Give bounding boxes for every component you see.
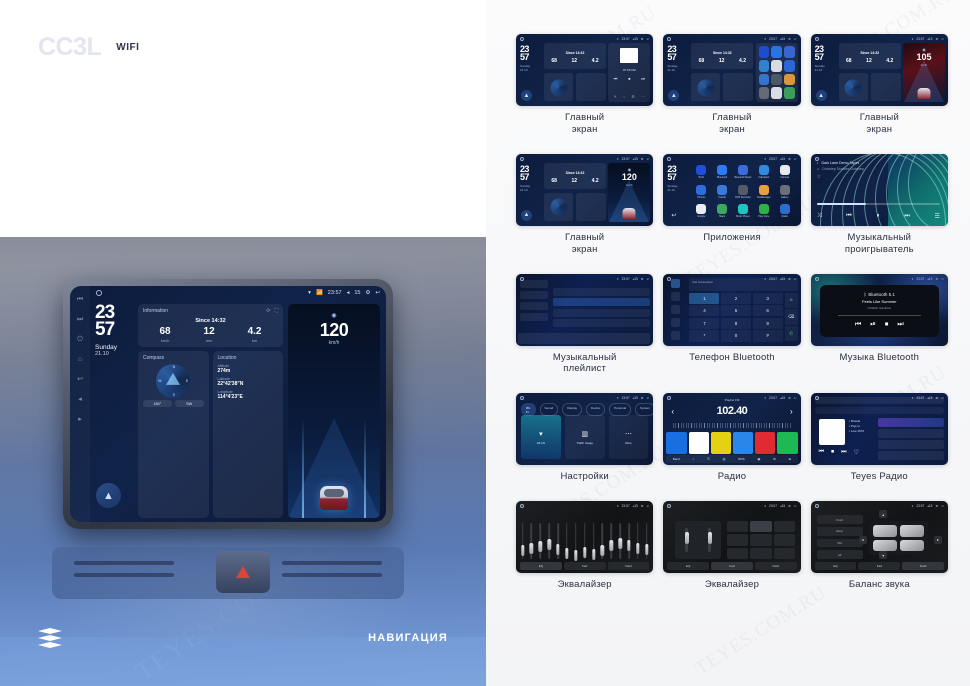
balance-option[interactable]: Mix bbox=[817, 539, 863, 548]
backspace-icon[interactable]: ⌫ bbox=[785, 309, 798, 324]
home-indicator-icon[interactable] bbox=[520, 504, 524, 508]
prev-icon[interactable]: ⏮ bbox=[855, 321, 861, 329]
app-cell[interactable]: Play Store bbox=[754, 202, 774, 219]
app-shortcut-icon[interactable] bbox=[759, 74, 770, 86]
volume-up-icon[interactable]: ▸ bbox=[76, 415, 85, 424]
app-icon[interactable] bbox=[759, 204, 769, 214]
dial-key[interactable]: 7 bbox=[689, 318, 719, 329]
eq-tabs[interactable]: EQFadField bbox=[667, 562, 796, 570]
back-icon[interactable]: ↩ bbox=[794, 37, 797, 41]
eq-knob[interactable] bbox=[592, 549, 595, 560]
settings-card[interactable]: ⋯More bbox=[609, 415, 649, 459]
home-indicator-icon[interactable] bbox=[520, 157, 524, 161]
eq-band-slider[interactable] bbox=[565, 523, 568, 559]
eq-tab[interactable]: EQ bbox=[520, 562, 562, 570]
prev-icon[interactable]: ⏮ bbox=[846, 213, 851, 220]
app-cell[interactable]: Maps bbox=[712, 202, 732, 219]
app-cell[interactable]: Calculator bbox=[754, 164, 774, 181]
eq-preset-key[interactable] bbox=[727, 534, 748, 545]
home-indicator-icon[interactable] bbox=[96, 290, 102, 296]
app-icon[interactable] bbox=[696, 204, 706, 214]
phone-nav-icon[interactable] bbox=[671, 331, 680, 340]
stop-icon[interactable]: ⏹ bbox=[831, 449, 834, 456]
power-icon[interactable]: ⏻ bbox=[76, 335, 85, 344]
information-card[interactable]: Information ⟳ ⛶ Since 14:32 68 bbox=[138, 304, 283, 347]
back-icon[interactable]: ↩ bbox=[794, 157, 797, 161]
screen-thumbnail-settings[interactable]: ▾23:57◂15⚙↩Wi-FiSoundDisplayDevicePerson… bbox=[516, 393, 653, 465]
location-card[interactable] bbox=[723, 73, 753, 101]
eq-tabs[interactable]: EQFadField bbox=[815, 562, 944, 570]
app-cell[interactable]: Bluetooth bbox=[712, 164, 732, 181]
media-bottom-bar[interactable]: ✎‹☰⋯ bbox=[610, 95, 648, 99]
back-icon[interactable]: ↩ bbox=[941, 504, 944, 508]
teyes-controls[interactable]: ⏮⏹⏭♡ bbox=[819, 449, 859, 456]
next-station-icon[interactable]: › bbox=[790, 407, 793, 416]
stop-icon[interactable]: ⏹ bbox=[628, 76, 630, 81]
app-cell[interactable]: Radio bbox=[775, 202, 795, 219]
dial-pad[interactable]: 123456789*0# bbox=[689, 293, 782, 342]
home-indicator-icon[interactable] bbox=[667, 37, 671, 41]
eq-knob[interactable] bbox=[521, 545, 524, 556]
screen-gallery-item[interactable]: ▾23:57◂15⚙↩2357Sunday21.10▲Since 14:3268… bbox=[811, 34, 948, 136]
favorite-icon[interactable]: ☆ bbox=[785, 293, 798, 308]
app-cell[interactable]: Music Player bbox=[733, 202, 753, 219]
phone-nav-icon[interactable] bbox=[671, 305, 680, 314]
screen-thumbnail-eq[interactable]: ▾23:57◂15⚙↩EQFadField bbox=[516, 501, 653, 573]
track-row[interactable] bbox=[553, 288, 650, 296]
eq-band-slider[interactable] bbox=[574, 523, 577, 559]
station-preset[interactable] bbox=[711, 432, 731, 454]
eq-preset-key[interactable] bbox=[727, 548, 748, 559]
player-controls[interactable]: ⤨⏮⏸⏭☰ bbox=[817, 213, 940, 220]
track-list[interactable] bbox=[553, 288, 650, 332]
eq-band-slider[interactable] bbox=[583, 523, 586, 559]
screen-gallery-item[interactable]: ▾23:57◂15⚙↩2357Sunday21.10▲Since 14:3268… bbox=[516, 154, 653, 256]
dial-key[interactable]: 5 bbox=[721, 305, 751, 316]
frequency-scale[interactable] bbox=[673, 423, 790, 428]
app-icon[interactable] bbox=[696, 185, 706, 195]
eq-knob[interactable] bbox=[530, 543, 533, 554]
search-icon[interactable]: ⌕ bbox=[693, 457, 695, 461]
location-card[interactable]: Location Altitude 274m Latitude 22°42'38… bbox=[213, 351, 284, 518]
layers-icon[interactable] bbox=[38, 628, 62, 648]
screen-gallery-item[interactable]: ▾23:57◂15⚙↩♪Dark Lane Demo Tapes♫Dubstep… bbox=[811, 154, 948, 256]
playlist-nav-item[interactable] bbox=[520, 313, 548, 321]
eq-band-slider[interactable] bbox=[539, 523, 542, 559]
station-row[interactable] bbox=[878, 429, 944, 438]
screen-gallery-item[interactable]: ▾23:57◂15⚙↩EQFadFieldЭквалайзер bbox=[663, 501, 800, 591]
navigation-fab[interactable]: ▲ bbox=[816, 90, 827, 101]
app-icon[interactable] bbox=[717, 165, 727, 175]
navigation-fab[interactable]: ▲ bbox=[96, 483, 121, 508]
refresh-icon[interactable]: ⟳ bbox=[266, 308, 270, 314]
shuffle-icon[interactable]: ⤨ bbox=[817, 213, 822, 220]
list-icon[interactable]: ☰ bbox=[631, 95, 634, 99]
screen-gallery-item[interactable]: ▾23:57◂15⚙↩2357Sunday21.10▲Since 14:3268… bbox=[516, 34, 653, 136]
next-icon[interactable]: ⏭ bbox=[897, 321, 903, 329]
compass-card[interactable] bbox=[544, 193, 573, 221]
compass-card[interactable] bbox=[839, 73, 868, 101]
station-preset[interactable] bbox=[666, 432, 686, 454]
screen-gallery-item[interactable]: ▾23:57◂15⚙↩Not Connected123456789*0#☆⌫✆Т… bbox=[663, 274, 800, 376]
app-shortcut-icon[interactable] bbox=[771, 74, 782, 86]
eq-band-slider[interactable] bbox=[619, 523, 622, 559]
back-icon[interactable]: ↩ bbox=[794, 504, 797, 508]
balance-right-arrow[interactable]: ▸ bbox=[934, 536, 942, 544]
playlist-nav-item[interactable] bbox=[520, 280, 548, 288]
screen-thumbnail-radio[interactable]: ▾23:57◂15⚙↩Playlist FM102.40‹›Band⌕☰▥RDS… bbox=[663, 393, 800, 465]
station-preset[interactable] bbox=[733, 432, 753, 454]
app-icon[interactable] bbox=[780, 185, 790, 195]
phone-sidebar[interactable] bbox=[663, 274, 686, 346]
eq-tab[interactable]: Field bbox=[902, 562, 944, 570]
compass-card[interactable] bbox=[544, 73, 573, 101]
prev-station-icon[interactable]: ‹ bbox=[671, 407, 674, 416]
eq-band-slider[interactable] bbox=[530, 523, 533, 559]
eq-tab[interactable]: Field bbox=[755, 562, 797, 570]
eq-preset-key[interactable] bbox=[774, 548, 795, 559]
media-controls[interactable]: ⏮⏹⏭ bbox=[608, 76, 650, 81]
app-icon[interactable] bbox=[717, 185, 727, 195]
seat-rear-right[interactable] bbox=[900, 540, 924, 552]
screen-gallery-item[interactable]: ▾23:57◂15⚙↩EQFadFieldЭквалайзер bbox=[516, 501, 653, 591]
teyes-filter-bar[interactable] bbox=[815, 407, 944, 414]
eq-tab[interactable]: EQ bbox=[667, 562, 709, 570]
back-icon[interactable]: ↩ bbox=[647, 396, 650, 400]
next-icon[interactable]: ⏭ bbox=[904, 213, 909, 220]
speed-panel[interactable]: ◉105km/h bbox=[903, 43, 945, 102]
eq-knob[interactable] bbox=[645, 544, 648, 555]
volume-down-icon[interactable]: ◂ bbox=[76, 395, 85, 404]
dial-key[interactable]: 8 bbox=[721, 318, 751, 329]
app-icon[interactable] bbox=[696, 165, 706, 175]
dial-key[interactable]: 2 bbox=[721, 293, 751, 304]
app-cell[interactable]: FileManager bbox=[754, 183, 774, 200]
app-shortcut-icon[interactable] bbox=[784, 46, 795, 58]
gear-icon[interactable]: ⚙ bbox=[641, 37, 644, 41]
screen-thumbnail-home-speed-red[interactable]: ▾23:57◂15⚙↩2357Sunday21.10▲Since 14:3268… bbox=[811, 34, 948, 106]
eq-knob[interactable] bbox=[565, 548, 568, 559]
station-preset[interactable] bbox=[689, 432, 709, 454]
favorite-icon[interactable]: ☆ bbox=[817, 174, 885, 180]
eq-band-slider[interactable] bbox=[610, 523, 613, 559]
eq-knob[interactable] bbox=[539, 541, 542, 552]
pause-icon[interactable]: ⏸ bbox=[877, 213, 880, 220]
app-shortcut-icon[interactable] bbox=[771, 60, 782, 72]
settings-cards[interactable]: ▾WLAN▥Traffic Usage⋯More bbox=[521, 415, 648, 459]
eq-band-slider[interactable] bbox=[636, 523, 639, 559]
eq-preset-key[interactable] bbox=[727, 521, 748, 532]
navigation-fab[interactable]: ▲ bbox=[668, 90, 679, 101]
home-indicator-icon[interactable] bbox=[667, 157, 671, 161]
forward-icon[interactable]: ⏭ bbox=[76, 315, 85, 324]
expand-icon[interactable]: ⛶ bbox=[274, 308, 278, 314]
apps-icon[interactable]: ⊞ bbox=[789, 457, 792, 461]
screen-thumbnail-balance[interactable]: ▾23:57◂15⚙↩FrontRearMixAll▴▾◂▸EQFadField bbox=[811, 501, 948, 573]
eq-knob[interactable] bbox=[610, 540, 613, 551]
screen-thumbnail-apps[interactable]: ▾23:57◂15⚙↩Wi-FiBluetoothBluetooth Music… bbox=[663, 154, 800, 226]
balance-left-arrow[interactable]: ◂ bbox=[859, 536, 867, 544]
rds-icon[interactable]: RDS bbox=[738, 457, 744, 461]
eq-tab[interactable]: EQ bbox=[815, 562, 857, 570]
eq-preset-key[interactable] bbox=[774, 521, 795, 532]
band-button[interactable]: Band bbox=[673, 457, 680, 461]
phone-nav-icon[interactable] bbox=[671, 318, 680, 327]
eq-header[interactable] bbox=[520, 510, 649, 519]
app-icon[interactable] bbox=[759, 165, 769, 175]
eq-preset-key[interactable] bbox=[750, 521, 771, 532]
gear-icon[interactable]: ⚙ bbox=[641, 277, 644, 281]
station-preset[interactable] bbox=[777, 432, 797, 454]
phone-nav-icon[interactable] bbox=[671, 292, 680, 301]
dial-key[interactable]: 6 bbox=[753, 305, 783, 316]
gear-icon[interactable]: ⚙ bbox=[788, 37, 791, 41]
screen-thumbnail-btmusic[interactable]: ▾23:57◂15⚙↩ᛒBluetooth 5.1Feels Like Summ… bbox=[811, 274, 948, 346]
eq-tab[interactable]: Fad bbox=[711, 562, 753, 570]
balance-slider[interactable] bbox=[708, 528, 711, 552]
next-icon[interactable]: ⏭ bbox=[841, 449, 846, 456]
eq-band-slider[interactable] bbox=[557, 523, 560, 559]
app-grid[interactable]: Wi-FiBluetoothBluetooth MusicCalculatorC… bbox=[689, 162, 796, 222]
app-cell[interactable]: Chrome bbox=[691, 183, 711, 200]
location-card[interactable] bbox=[871, 73, 901, 101]
favorite-icon[interactable]: ♡ bbox=[853, 449, 858, 456]
app-shortcut-icon[interactable] bbox=[784, 60, 795, 72]
playlist-nav-item[interactable] bbox=[520, 302, 548, 310]
balance-up-arrow[interactable]: ▴ bbox=[879, 510, 887, 518]
eq-knob[interactable] bbox=[583, 547, 586, 558]
balance-pad[interactable] bbox=[869, 521, 928, 555]
eq-preset-key[interactable] bbox=[750, 534, 771, 545]
dial-key[interactable]: 1 bbox=[689, 293, 719, 304]
balance-options[interactable]: FrontRearMixAll bbox=[817, 515, 863, 559]
screen-gallery-item[interactable]: ▾23:57◂15⚙↩FrontRearMixAll▴▾◂▸EQFadField… bbox=[811, 501, 948, 591]
screen-gallery-item[interactable]: ▾23:57◂15⚙↩Wi-FiSoundDisplayDevicePerson… bbox=[516, 393, 653, 483]
gear-icon[interactable]: ⚙ bbox=[935, 504, 938, 508]
eq-header[interactable] bbox=[667, 510, 796, 519]
app-icon[interactable] bbox=[759, 185, 769, 195]
back-icon[interactable]: ↩ bbox=[647, 157, 650, 161]
compass-card[interactable]: Compass N E S W 180° bbox=[138, 351, 209, 518]
eq-icon[interactable]: ▥ bbox=[723, 457, 726, 461]
back-icon[interactable]: ‹ bbox=[623, 95, 624, 99]
phone-nav-icon[interactable] bbox=[671, 279, 680, 288]
speed-panel[interactable]: ◉120km/h bbox=[608, 163, 650, 222]
more-icon[interactable]: ⋯ bbox=[641, 95, 645, 99]
home-indicator-icon[interactable] bbox=[520, 37, 524, 41]
gear-icon[interactable]: ⚙ bbox=[641, 504, 644, 508]
eq-fader-sliders[interactable] bbox=[675, 521, 721, 559]
eq-preset-key[interactable] bbox=[774, 534, 795, 545]
seat-rear-left[interactable] bbox=[873, 540, 897, 552]
balance-option[interactable]: Front bbox=[817, 515, 863, 524]
screen-thumbnail-home-apps[interactable]: ▾23:57◂15⚙↩2357Sunday21.10▲Since 14:3268… bbox=[663, 34, 800, 106]
gear-icon[interactable]: ⚙ bbox=[788, 504, 791, 508]
screen-gallery-item[interactable]: ▾23:57◂15⚙↩Wi-FiBluetoothBluetooth Music… bbox=[663, 154, 800, 256]
app-shortcut-icon[interactable] bbox=[784, 74, 795, 86]
progress-slider[interactable] bbox=[817, 203, 940, 205]
home-indicator-icon[interactable] bbox=[520, 396, 524, 400]
app-cell[interactable]: Bluetooth Music bbox=[733, 164, 753, 181]
app-shortcut-icon[interactable] bbox=[759, 87, 770, 99]
home-indicator-icon[interactable] bbox=[667, 504, 671, 508]
navigation-fab[interactable]: ▲ bbox=[521, 90, 532, 101]
rewind-icon[interactable]: ⏮ bbox=[76, 295, 85, 304]
eq-knob[interactable] bbox=[627, 540, 630, 551]
app-icon[interactable] bbox=[780, 165, 790, 175]
screen-thumbnail-dialpad[interactable]: ▾23:57◂15⚙↩Not Connected123456789*0#☆⌫✆ bbox=[663, 274, 800, 346]
hazard-light-button[interactable] bbox=[216, 551, 270, 593]
station-row[interactable] bbox=[878, 418, 944, 427]
app-cell[interactable]: Wi-Fi bbox=[691, 164, 711, 181]
app-icon[interactable] bbox=[717, 204, 727, 214]
prev-icon[interactable]: ⏮ bbox=[819, 449, 824, 456]
eq-preset-key[interactable] bbox=[750, 548, 771, 559]
next-icon[interactable]: ⏭ bbox=[641, 76, 645, 81]
app-cell[interactable]: DVR Recorder bbox=[733, 183, 753, 200]
progress-slider[interactable] bbox=[838, 315, 922, 316]
app-icon[interactable] bbox=[738, 165, 748, 175]
eq-tab[interactable]: Field bbox=[608, 562, 650, 570]
navigation-fab[interactable]: ▲ bbox=[521, 210, 532, 221]
back-icon[interactable]: ↩ bbox=[941, 37, 944, 41]
screen-gallery-item[interactable]: ▾23:57◂15⚙↩♪ Russia♪ Pop.ru♪ Low 1670⏮⏹⏭… bbox=[811, 393, 948, 483]
screen-side-rail[interactable]: ⏮ ⏭ ⏻ ⌂ ↩ ◂ ▸ bbox=[70, 286, 90, 522]
speed-panel[interactable]: ◉ 120 km/h bbox=[288, 304, 380, 518]
eq-knob[interactable] bbox=[618, 538, 621, 549]
balance-option[interactable]: Rear bbox=[817, 527, 863, 536]
track-row[interactable] bbox=[553, 309, 650, 317]
screen-gallery-item[interactable]: ▾23:57◂15⚙↩Playlist FM102.40‹›Band⌕☰▥RDS… bbox=[663, 393, 800, 483]
app-cell[interactable]: Carlink bbox=[712, 183, 732, 200]
information-card[interactable]: Since 14:3268124.2 bbox=[691, 43, 753, 69]
eq-knob[interactable] bbox=[574, 550, 577, 561]
track-row[interactable] bbox=[553, 298, 650, 306]
back-arrow-icon[interactable]: ↩ bbox=[375, 290, 380, 296]
gear-icon[interactable]: ⚙ bbox=[641, 396, 644, 400]
settings-gear-icon[interactable]: ⚙ bbox=[365, 290, 370, 296]
dial-entry-field[interactable]: Not Connected bbox=[689, 278, 797, 291]
home-indicator-icon[interactable] bbox=[815, 37, 819, 41]
call-icon[interactable]: ✆ bbox=[785, 326, 798, 341]
eq-knob[interactable] bbox=[547, 539, 550, 550]
bt-controls[interactable]: ⏮⏯⏹⏭ bbox=[855, 321, 904, 329]
phone-action-column[interactable]: ☆⌫✆ bbox=[785, 293, 798, 342]
compass-card[interactable] bbox=[691, 73, 720, 101]
screen-gallery-item[interactable]: ▾23:57◂15⚙↩2357Sunday21.10▲Since 14:3268… bbox=[663, 34, 800, 136]
playlist-nav-item[interactable] bbox=[520, 291, 548, 299]
dial-key[interactable]: # bbox=[753, 330, 783, 341]
app-shortcut-icon[interactable] bbox=[759, 46, 770, 58]
app-cell[interactable]: Camera bbox=[775, 164, 795, 181]
screen-thumbnail-playlist[interactable]: ▾23:57◂15⚙↩ bbox=[516, 274, 653, 346]
information-card[interactable]: Since 14:3268124.2 bbox=[839, 43, 901, 69]
loc-icon[interactable]: ▣ bbox=[757, 457, 760, 461]
location-card[interactable] bbox=[576, 193, 606, 221]
eq-knob[interactable] bbox=[636, 543, 639, 554]
station-list[interactable] bbox=[878, 418, 944, 461]
app-icon[interactable] bbox=[738, 204, 748, 214]
list-icon[interactable]: ☰ bbox=[935, 213, 940, 220]
back-icon[interactable]: ↩ bbox=[668, 210, 679, 221]
eq-band-slider[interactable] bbox=[592, 523, 595, 559]
app-icon[interactable] bbox=[780, 204, 790, 214]
back-icon[interactable]: ↩ bbox=[76, 375, 85, 384]
app-shortcut-icon[interactable] bbox=[771, 46, 782, 58]
mini-player-bar[interactable] bbox=[518, 333, 650, 344]
app-shortcut-panel[interactable] bbox=[756, 43, 798, 102]
eq-band-slider[interactable] bbox=[645, 523, 648, 559]
gear-icon[interactable]: ⚙ bbox=[788, 157, 791, 161]
dial-key[interactable]: 0 bbox=[721, 330, 751, 341]
home-indicator-icon[interactable] bbox=[815, 504, 819, 508]
dial-key[interactable]: 9 bbox=[753, 318, 783, 329]
eq-band-slider[interactable] bbox=[601, 523, 604, 559]
station-row[interactable] bbox=[878, 451, 944, 460]
information-card[interactable]: Since 14:3268124.2 bbox=[544, 163, 606, 189]
list-icon[interactable]: ☰ bbox=[707, 457, 710, 461]
track-row[interactable] bbox=[553, 319, 650, 327]
app-shortcut-icon[interactable] bbox=[759, 60, 770, 72]
seat-front-left[interactable] bbox=[873, 525, 897, 537]
app-cell[interactable]: Google bbox=[691, 202, 711, 219]
location-card[interactable] bbox=[576, 73, 606, 101]
eq-tab[interactable]: Fad bbox=[564, 562, 606, 570]
screen-thumbnail-player[interactable]: ▾23:57◂15⚙↩♪Dark Lane Demo Tapes♫Dubstep… bbox=[811, 154, 948, 226]
stop-icon[interactable]: ⏹ bbox=[885, 321, 889, 329]
play-pause-icon[interactable]: ⏯ bbox=[870, 321, 876, 329]
dial-key[interactable]: * bbox=[689, 330, 719, 341]
screen-thumbnail-teyesradio[interactable]: ▾23:57◂15⚙↩♪ Russia♪ Pop.ru♪ Low 1670⏮⏹⏭… bbox=[811, 393, 948, 465]
card-action-icons[interactable]: ⟳ ⛶ bbox=[266, 308, 278, 314]
prev-icon[interactable]: ⏮ bbox=[614, 76, 618, 81]
screen-thumbnail-eq2[interactable]: ▾23:57◂15⚙↩EQFadField bbox=[663, 501, 800, 573]
station-presets[interactable] bbox=[666, 432, 797, 454]
media-card[interactable]: 97.50 FM⏮⏹⏭✎‹☰⋯ bbox=[608, 43, 650, 102]
gear-icon[interactable]: ⚙ bbox=[935, 37, 938, 41]
eq-band-slider[interactable] bbox=[548, 523, 551, 559]
eq-knob[interactable] bbox=[601, 545, 604, 556]
screen-gallery-item[interactable]: ▾23:57◂15⚙↩ᛒBluetooth 5.1Feels Like Summ… bbox=[811, 274, 948, 376]
balance-option[interactable]: All bbox=[817, 550, 863, 559]
screen-thumbnail-home-media[interactable]: ▾23:57◂15⚙↩2357Sunday21.10▲Since 14:3268… bbox=[516, 34, 653, 106]
fader-slider[interactable] bbox=[685, 528, 688, 552]
settings-icon[interactable]: ⚙ bbox=[773, 457, 776, 461]
station-preset[interactable] bbox=[755, 432, 775, 454]
eq-band-slider[interactable] bbox=[521, 523, 524, 559]
home-icon[interactable]: ⌂ bbox=[76, 355, 85, 364]
station-row[interactable] bbox=[878, 440, 944, 449]
app-shortcut-icon[interactable] bbox=[784, 87, 795, 99]
back-icon[interactable]: ↩ bbox=[647, 37, 650, 41]
seat-front-right[interactable] bbox=[900, 525, 924, 537]
eq-tabs[interactable]: EQFadField bbox=[520, 562, 649, 570]
dial-key[interactable]: 4 bbox=[689, 305, 719, 316]
back-icon[interactable]: ↩ bbox=[647, 504, 650, 508]
eq-band-slider[interactable] bbox=[628, 523, 631, 559]
app-icon[interactable] bbox=[738, 185, 748, 195]
back-icon[interactable]: ↩ bbox=[647, 277, 650, 281]
eq-tab[interactable]: Fad bbox=[858, 562, 900, 570]
edit-icon[interactable]: ✎ bbox=[614, 95, 617, 99]
balance-down-arrow[interactable]: ▾ bbox=[879, 551, 887, 559]
eq-knob[interactable] bbox=[556, 544, 559, 555]
eq-preset-grid[interactable] bbox=[727, 521, 794, 559]
app-cell[interactable]: Gallery bbox=[775, 183, 795, 200]
settings-card[interactable]: ▥Traffic Usage bbox=[565, 415, 605, 459]
radio-toolbar[interactable]: Band⌕☰▥RDS▣⚙⊞ bbox=[666, 455, 797, 463]
gear-icon[interactable]: ⚙ bbox=[641, 157, 644, 161]
